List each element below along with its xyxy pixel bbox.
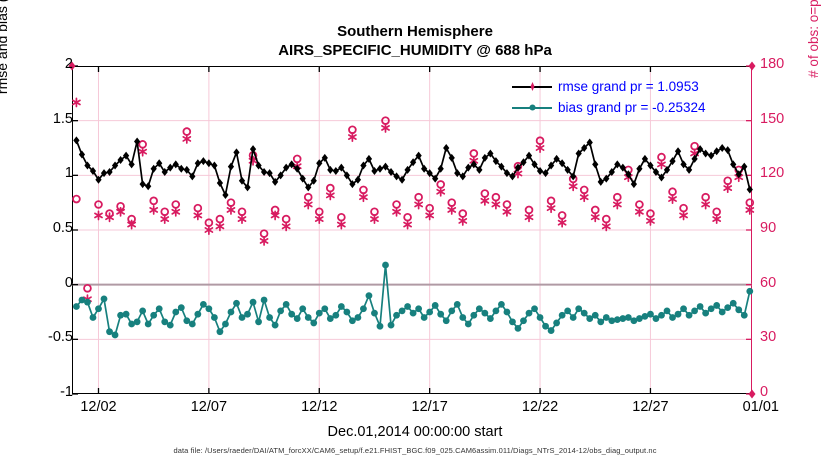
plot-page: Southern Hemisphere AIRS_SPECIFIC_HUMIDI… <box>0 0 830 470</box>
title-line-2: AIRS_SPECIFIC_HUMIDITY @ 688 hPa <box>0 41 830 60</box>
legend-item-bias[interactable]: bias grand pr = -0.25324 <box>512 97 752 118</box>
y-tick-right-4: 60 <box>760 275 776 291</box>
x-tick-6: 01/01 <box>743 399 779 415</box>
x-axis-label: Dec.01,2014 00:00:00 start <box>0 424 830 440</box>
y-axis-label-left: rmse and bias (model - observation) <box>0 0 10 112</box>
y-tick-left-5: -0.5 <box>48 329 73 345</box>
y-tick-left-6: -1 <box>60 384 73 400</box>
y-tick-right-5: 30 <box>760 329 776 345</box>
x-tick-1: 12/07 <box>191 399 227 415</box>
y-tick-left-3: 0.5 <box>53 220 73 236</box>
y-tick-right-3: 90 <box>760 220 776 236</box>
x-tick-2: 12/12 <box>301 399 337 415</box>
legend-label-bias: bias grand pr = -0.25324 <box>558 100 705 115</box>
y-tick-left-0: 2 <box>65 56 73 72</box>
y-tick-left-1: 1.5 <box>53 111 73 127</box>
y-tick-right-1: 150 <box>760 111 784 127</box>
x-tick-4: 12/22 <box>522 399 558 415</box>
legend-marker-bias <box>512 100 552 116</box>
chart-legend: rmse grand pr = 1.0953 bias grand pr = -… <box>512 76 752 118</box>
y-tick-right-0: 180 <box>760 56 784 72</box>
x-tick-5: 12/27 <box>632 399 668 415</box>
data-file-footer: data file: /Users/raeder/DAI/ATM_forcXX/… <box>0 446 830 455</box>
y-tick-left-2: 1 <box>65 165 73 181</box>
legend-item-rmse[interactable]: rmse grand pr = 1.0953 <box>512 76 752 97</box>
legend-marker-rmse <box>512 79 552 95</box>
x-tick-0: 12/02 <box>80 399 116 415</box>
y-tick-right-6: 0 <box>760 384 768 400</box>
legend-label-rmse: rmse grand pr = 1.0953 <box>558 79 699 94</box>
x-tick-3: 12/17 <box>412 399 448 415</box>
y-tick-left-4: 0 <box>65 275 73 291</box>
page-title: Southern Hemisphere AIRS_SPECIFIC_HUMIDI… <box>0 22 830 60</box>
diamond-asterisk-icon <box>528 82 537 91</box>
y-tick-right-2: 120 <box>760 165 784 181</box>
title-line-1: Southern Hemisphere <box>0 22 830 41</box>
circle-icon <box>528 103 537 112</box>
y-axis-label-right: # of obs: o=possible; *=evaluated <box>806 0 821 108</box>
